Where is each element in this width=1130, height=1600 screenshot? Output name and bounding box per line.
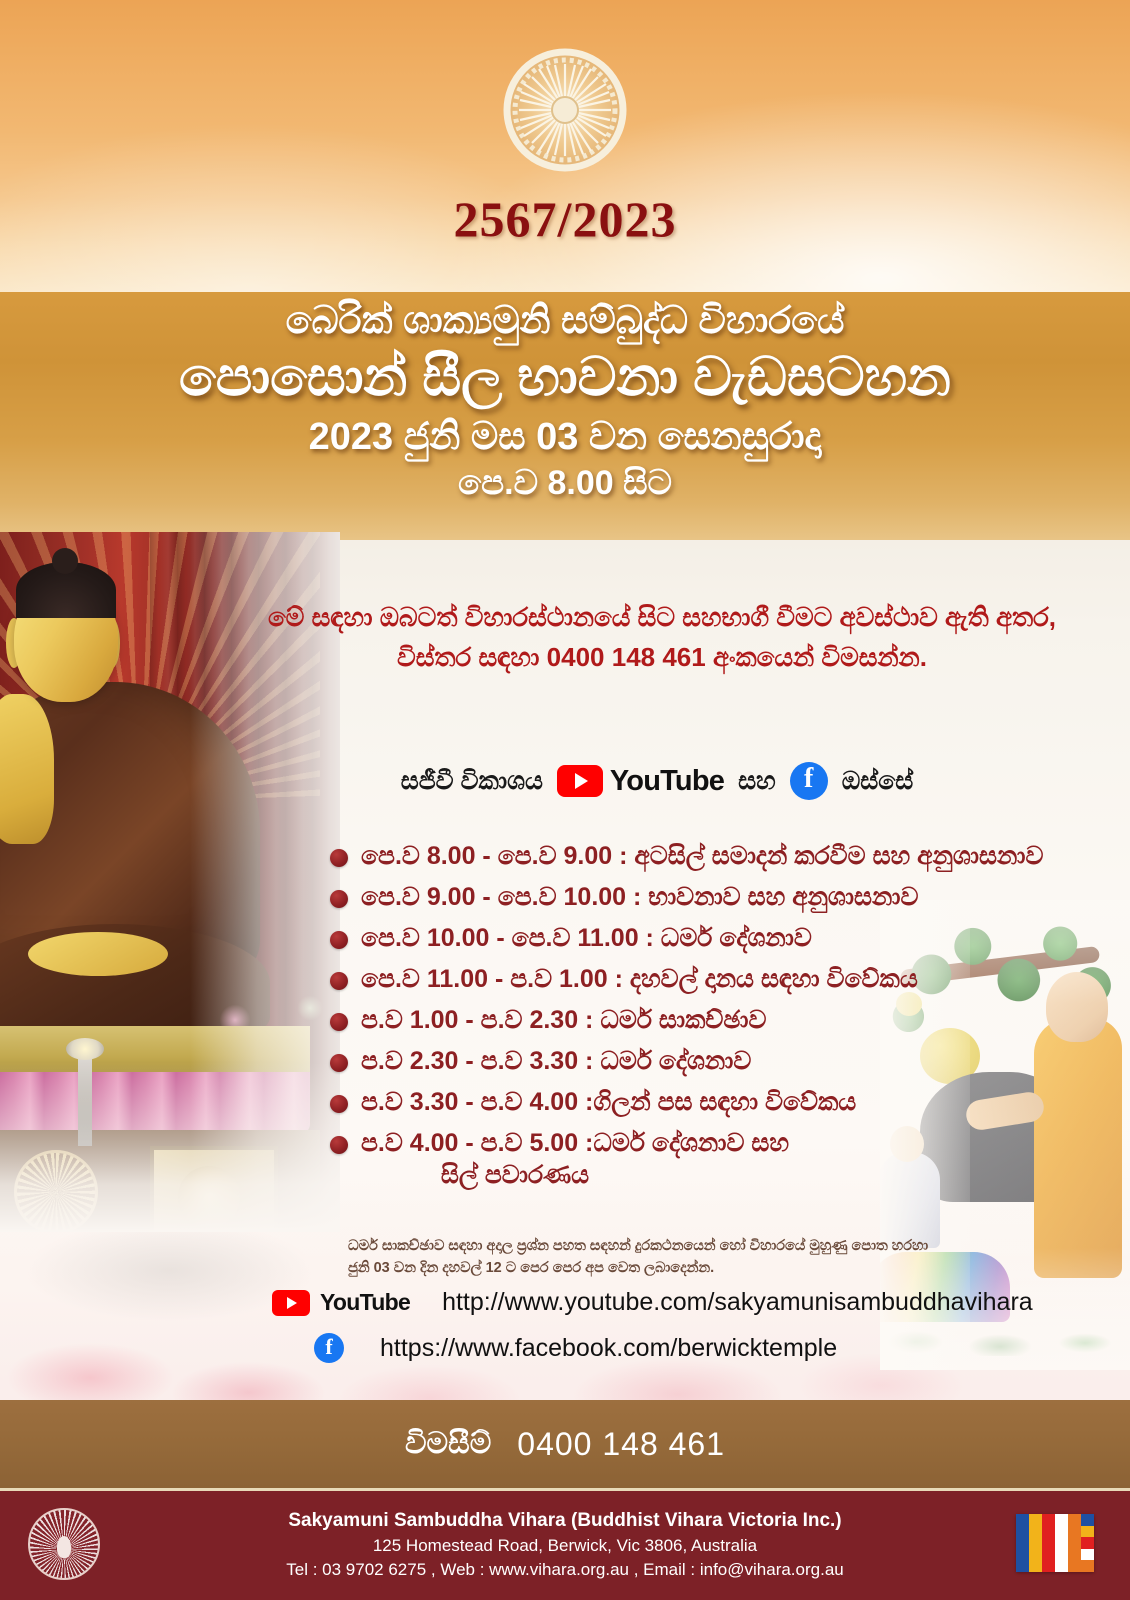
youtube-url[interactable]: http://www.youtube.com/sakyamunisambuddh… bbox=[442, 1288, 1033, 1317]
list-item: ප.ව 1.00 - ප.ව 2.30 : ධර්ම සාකච්ඡාව bbox=[330, 1004, 1120, 1036]
footer-org-name: Sakyamuni Sambuddha Vihara (Buddhist Vih… bbox=[160, 1508, 970, 1534]
live-conjunction-label: සහ bbox=[738, 767, 776, 796]
live-suffix-label: ඔස්සේ bbox=[842, 767, 914, 796]
facebook-url[interactable]: https://www.facebook.com/berwicktemple bbox=[380, 1334, 837, 1363]
bullet-icon bbox=[330, 1095, 348, 1113]
dharma-wheel-icon bbox=[503, 48, 627, 172]
schedule-item-text: ප.ව 3.30 - ප.ව 4.00 :ගිලන් පස සඳහා විවේක… bbox=[361, 1088, 856, 1116]
list-item: ප.ව 3.30 - ප.ව 4.00 :ගිලන් පස සඳහා විවේක… bbox=[330, 1086, 1120, 1118]
footnote-line-2: ජුනි 03 වන දින දහවල් 12 ට පෙර පෙර අප වෙත… bbox=[348, 1258, 1008, 1280]
footer-address: 125 Homestead Road, Berwick, Vic 3806, A… bbox=[160, 1534, 970, 1559]
phone-bar: විමසීම් 0400 148 461 bbox=[0, 1400, 1130, 1488]
facebook-icon[interactable]: f bbox=[790, 762, 828, 800]
year-heading: 2567/2023 bbox=[0, 190, 1130, 248]
youtube-play-icon bbox=[272, 1290, 310, 1316]
schedule-item-text: පෙ.ව 10.00 - පෙ.ව 11.00 : ධර්ම දේශනාව bbox=[361, 924, 812, 952]
schedule-item-continuation: සිල් පවාරණය bbox=[361, 1159, 789, 1191]
title-line-time: පෙ.ව 8.00 සිට bbox=[0, 462, 1130, 505]
schedule-item-text: පෙ.ව 9.00 - පෙ.ව 10.00 : භාවනාව සහ අනුශා… bbox=[361, 883, 918, 911]
live-prefix-label: සජීවී විකාශය bbox=[401, 767, 543, 796]
live-broadcast-row: සජීවී විකාශය YouTube සහ f ඔස්සේ bbox=[262, 762, 1052, 800]
phone-number[interactable]: 0400 148 461 bbox=[517, 1426, 725, 1463]
youtube-wordmark: YouTube bbox=[320, 1289, 410, 1316]
title-line-program: පොසොන් සීල භාවනා වැඩසටහන bbox=[0, 346, 1130, 410]
bullet-icon bbox=[330, 1013, 348, 1031]
bullet-icon bbox=[330, 972, 348, 990]
facebook-link-row[interactable]: f https://www.facebook.com/berwicktemple bbox=[272, 1333, 1072, 1363]
schedule-item-text: ප.ව 4.00 - ප.ව 5.00 :ධර්ම දේශනාව සහ bbox=[361, 1129, 789, 1157]
bullet-icon bbox=[330, 1136, 348, 1154]
list-item: පෙ.ව 9.00 - පෙ.ව 10.00 : භාවනාව සහ අනුශා… bbox=[330, 881, 1120, 913]
footer-contact: Tel : 03 9702 6275 , Web : www.vihara.or… bbox=[160, 1558, 970, 1583]
schedule-list: පෙ.ව 8.00 - පෙ.ව 9.00 : අටසිල් සමාදන් කර… bbox=[330, 840, 1120, 1200]
footer-text: Sakyamuni Sambuddha Vihara (Buddhist Vih… bbox=[160, 1508, 970, 1583]
bullet-icon bbox=[330, 849, 348, 867]
footnote-line-1: ධර්ම සාකච්ඡාව සඳහා අදාල ප්‍රශ්න පහත සඳහන… bbox=[348, 1236, 1008, 1258]
facebook-icon: f bbox=[314, 1333, 344, 1363]
schedule-item-text: පෙ.ව 8.00 - පෙ.ව 9.00 : අටසිල් සමාදන් කර… bbox=[361, 842, 1043, 870]
poster-root: 2567/2023 බෙරික් ශාක්‍යමුනි සම්බුද්ධ විහ… bbox=[0, 0, 1130, 1600]
list-item: පෙ.ව 10.00 - පෙ.ව 11.00 : ධර්ම දේශනාව bbox=[330, 922, 1120, 954]
youtube-play-icon bbox=[557, 765, 603, 797]
phone-label: විමසීම් bbox=[405, 1427, 491, 1461]
buddhist-flag-icon bbox=[1016, 1514, 1094, 1572]
vihara-seal-icon bbox=[28, 1508, 100, 1580]
youtube-logo[interactable]: YouTube bbox=[557, 765, 724, 798]
title-block: බෙරික් ශාක්‍යමුනි සම්බුද්ධ විහාරයේ පොසොන… bbox=[0, 292, 1130, 504]
intro-paragraph: මේ සඳහා ඔබටත් විහාරස්ථානයේ සිට සහභාගී වී… bbox=[262, 598, 1062, 677]
list-item: ප.ව 4.00 - ප.ව 5.00 :ධර්ම දේශනාව සහ සිල්… bbox=[330, 1127, 1120, 1191]
list-item: ප.ව 2.30 - ප.ව 3.30 : ධර්ම දේශනාව bbox=[330, 1045, 1120, 1077]
bullet-icon bbox=[330, 890, 348, 908]
title-line-date: 2023 ජුනි මස 03 වන සෙනසුරාදා bbox=[0, 414, 1130, 462]
title-line-vihara: බෙරික් ශාක්‍යමුනි සම්බුද්ධ විහාරයේ bbox=[0, 298, 1130, 344]
youtube-link-row[interactable]: YouTube http://www.youtube.com/sakyamuni… bbox=[272, 1288, 1072, 1317]
footer-divider bbox=[0, 1488, 1130, 1491]
schedule-item-text: පෙ.ව 11.00 - ප.ව 1.00 : දහවල් දානය සඳහා … bbox=[361, 965, 918, 993]
schedule-item-text: ප.ව 1.00 - ප.ව 2.30 : ධර්ම සාකච්ඡාව bbox=[361, 1006, 766, 1034]
list-item: පෙ.ව 8.00 - පෙ.ව 9.00 : අටසිල් සමාදන් කර… bbox=[330, 840, 1120, 872]
schedule-item-text: ප.ව 2.30 - ප.ව 3.30 : ධර්ම දේශනාව bbox=[361, 1047, 751, 1075]
youtube-wordmark: YouTube bbox=[610, 765, 724, 798]
footnote: ධර්ම සාකච්ඡාව සඳහා අදාල ප්‍රශ්න පහත සඳහන… bbox=[348, 1236, 1008, 1280]
bullet-icon bbox=[330, 931, 348, 949]
list-item: පෙ.ව 11.00 - ප.ව 1.00 : දහවල් දානය සඳහා … bbox=[330, 963, 1120, 995]
social-links: YouTube http://www.youtube.com/sakyamuni… bbox=[272, 1288, 1072, 1379]
bullet-icon bbox=[330, 1054, 348, 1072]
